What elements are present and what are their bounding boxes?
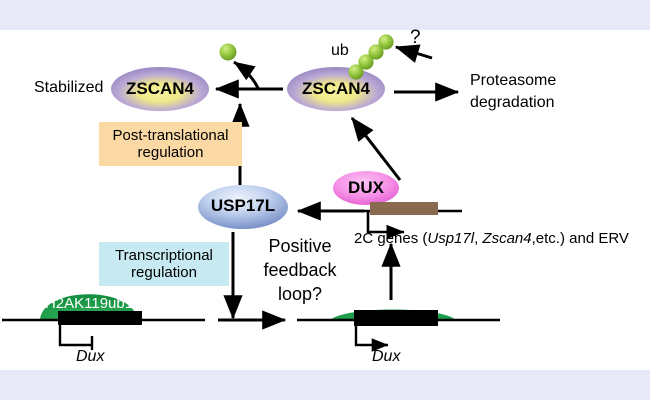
stabilized-label: Stabilized xyxy=(34,79,103,97)
diagram-artwork xyxy=(0,0,650,400)
transcriptional-line-2: regulation xyxy=(131,264,197,281)
zscan4-production-arrow xyxy=(352,118,400,180)
free-ubiquitin-ball xyxy=(220,44,237,61)
ubiquitin-release-arrow xyxy=(234,62,258,88)
ub-label: ub xyxy=(331,42,349,60)
target-gene-body xyxy=(370,202,438,215)
post-translational-line-2: regulation xyxy=(138,144,204,161)
h2ak119ub1-label: H2AK119ub1 xyxy=(38,296,140,313)
target-genes-label: 2C genes (Usp17l, Zscan4,etc.) and ERV xyxy=(354,231,629,248)
dux-label: DUX xyxy=(331,178,401,198)
post-translational-regulation-box: Post-translational regulation xyxy=(99,122,242,166)
usp17l-label: USP17L xyxy=(194,196,292,216)
right-dux-gene-label: Dux xyxy=(372,348,400,366)
proteasome-line-2: degradation xyxy=(470,94,555,112)
ubiquitin-ball-4 xyxy=(378,34,393,49)
transcriptional-regulation-box: Transcriptional regulation xyxy=(99,242,229,286)
transcriptional-line-1: Transcriptional xyxy=(115,247,213,264)
target-gene-usp17l: Usp17l xyxy=(427,230,474,247)
question-mark-label: ? xyxy=(410,27,421,48)
left-dux-gene-label: Dux xyxy=(76,348,104,366)
proteasome-line-1: Proteasome xyxy=(470,72,556,90)
question-arrow xyxy=(396,47,432,58)
figure-canvas: Stabilized ZSCAN4 ZSCAN4 ub ? Proteasome… xyxy=(0,0,650,400)
feedback-line-3: loop? xyxy=(248,284,352,304)
target-genes-text-1: 2C genes ( xyxy=(354,230,427,247)
right-dux-body xyxy=(354,310,438,326)
post-translational-line-1: Post-translational xyxy=(113,127,229,144)
target-gene-zscan4: Zscan4 xyxy=(482,230,531,247)
feedback-line-1: Positive xyxy=(248,236,352,256)
feedback-line-2: feedback xyxy=(248,260,352,280)
target-genes-text-3: ,etc.) and ERV xyxy=(532,230,629,247)
zscan4-ubiquitinated-label: ZSCAN4 xyxy=(287,79,385,99)
left-dux-body xyxy=(58,311,142,325)
zscan4-stabilized-label: ZSCAN4 xyxy=(111,79,209,99)
left-dux-tss-mark xyxy=(60,322,92,345)
